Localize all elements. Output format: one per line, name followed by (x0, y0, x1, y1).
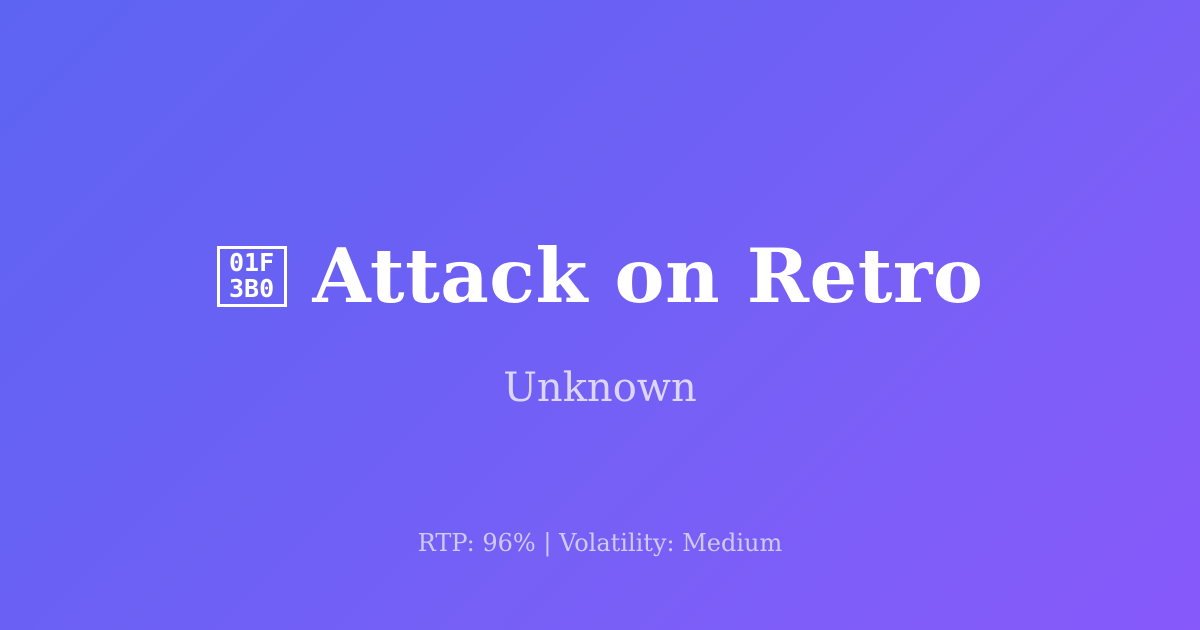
tofu-codepoint-top: 01F (229, 250, 274, 276)
slot-machine-emoji-icon: 01F 3B0 (217, 246, 287, 307)
subtitle: Unknown (0, 365, 1200, 411)
tofu-codepoint-bottom: 3B0 (229, 276, 274, 302)
og-card: 01F 3B0 Attack on Retro Unknown RTP: 96%… (0, 0, 1200, 630)
page-title: Attack on Retro (313, 239, 984, 314)
game-meta-line: RTP: 96% | Volatility: Medium (0, 528, 1200, 558)
title-row: 01F 3B0 Attack on Retro (0, 232, 1200, 320)
